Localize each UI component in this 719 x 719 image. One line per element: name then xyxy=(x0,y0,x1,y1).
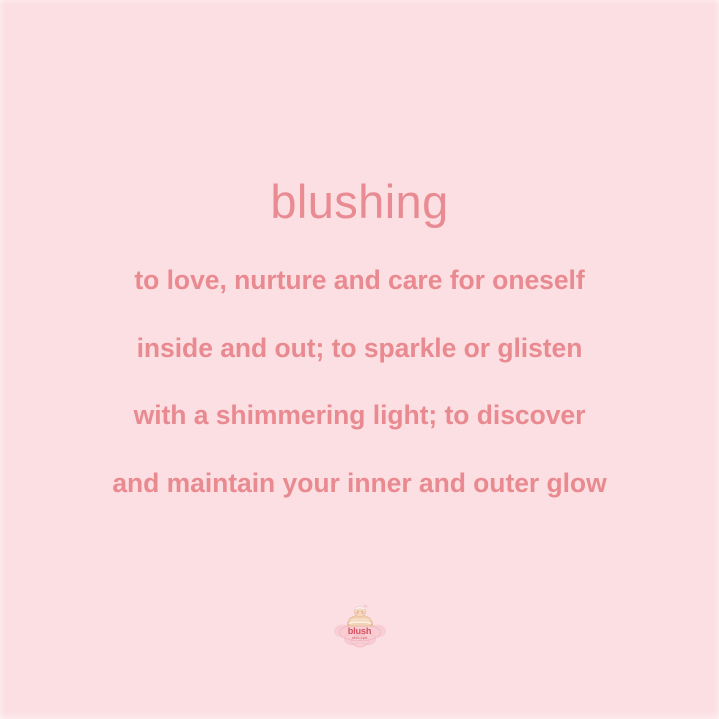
brand-logo: blush skin spa xyxy=(330,601,390,651)
logo-tagline: skin spa xyxy=(330,637,390,641)
definition-text: to love, nurture and care for oneself in… xyxy=(0,267,719,496)
logo-wordmark: blush xyxy=(330,627,390,636)
definition-line-4: and maintain your inner and outer glow xyxy=(0,470,719,497)
definition-line-2: inside and out; to sparkle or glisten xyxy=(0,335,719,362)
definition-line-1: to love, nurture and care for oneself xyxy=(0,267,719,294)
quote-block: blushing to love, nurture and care for o… xyxy=(0,178,719,496)
poster-canvas: blushing to love, nurture and care for o… xyxy=(0,0,719,719)
page-title: blushing xyxy=(0,178,719,225)
definition-line-3: with a shimmering light; to discover xyxy=(0,402,719,429)
